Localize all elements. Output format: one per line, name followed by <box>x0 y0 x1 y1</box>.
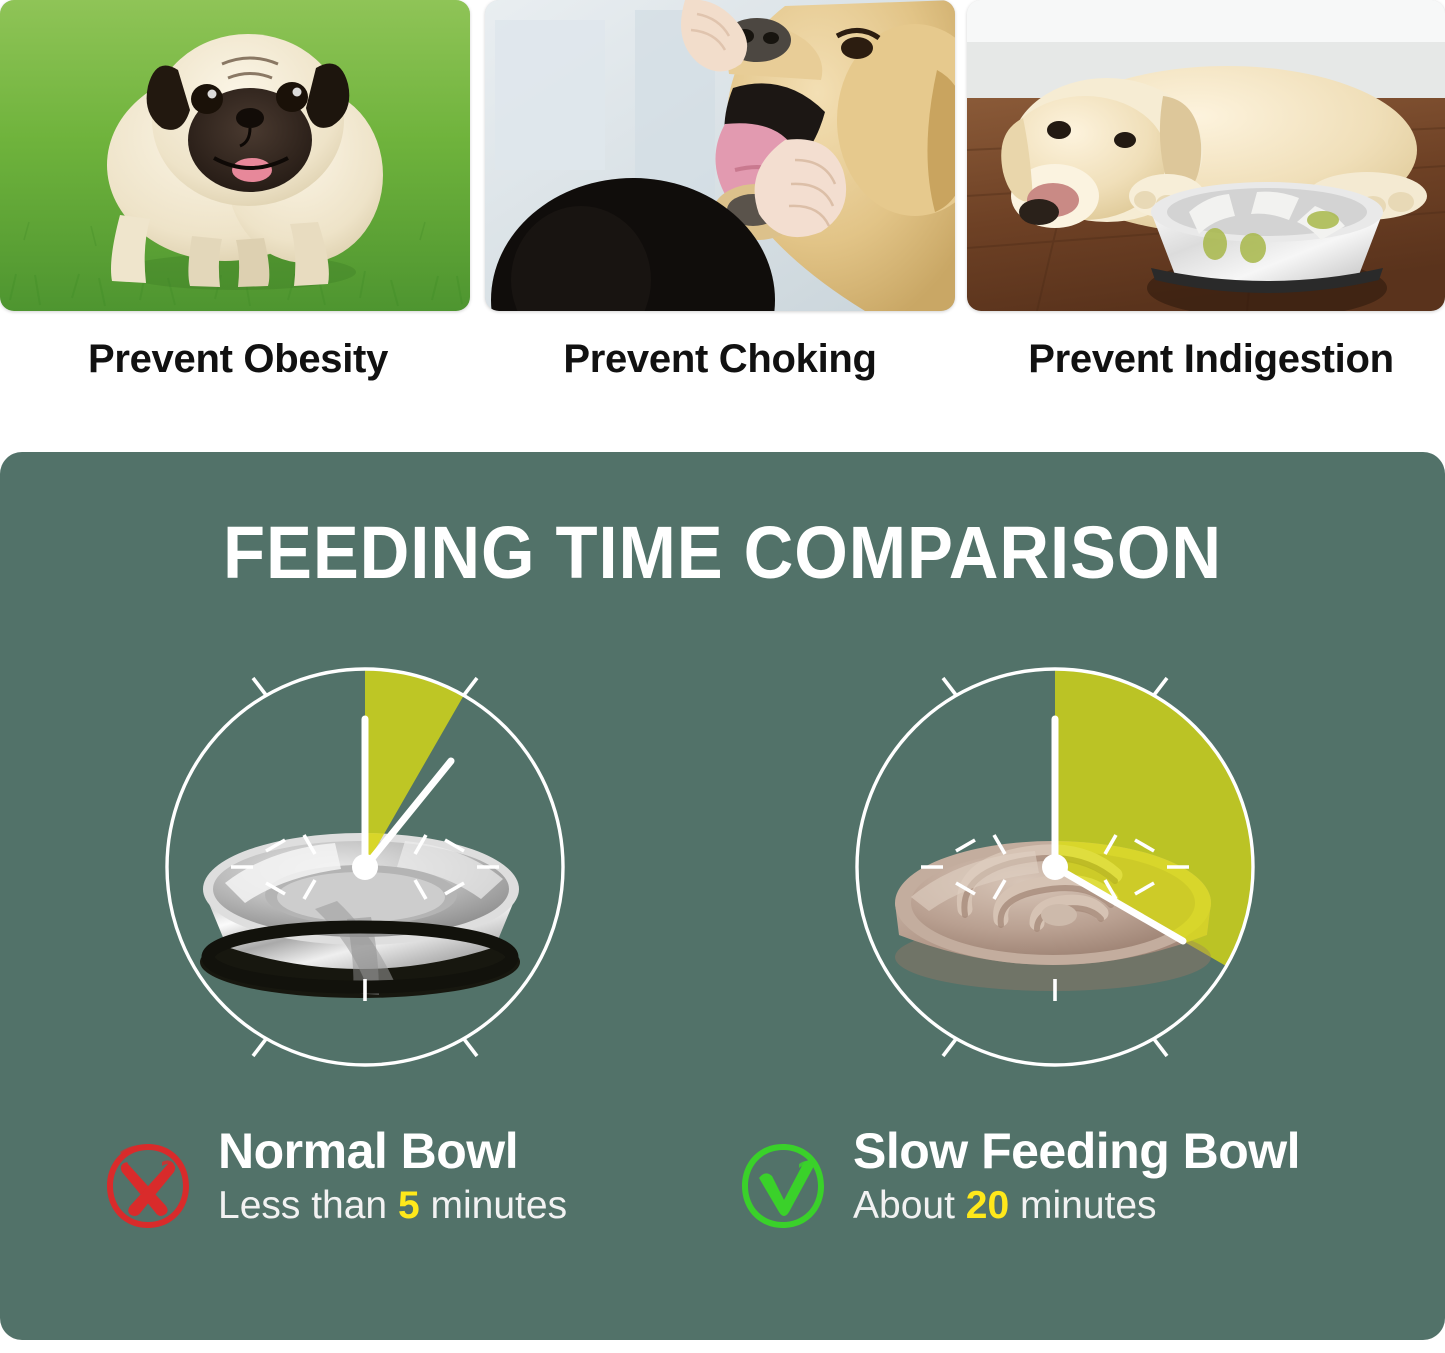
legend-title-slow-feeding-bowl: Slow Feeding Bowl <box>853 1124 1300 1178</box>
labrador-lying-by-food-bowl-photo <box>967 0 1445 311</box>
benefit-item-obesity: Prevent Obesity <box>0 0 470 382</box>
feeding-time-comparison-panel: FEEDING TIME COMPARISON <box>0 452 1445 1340</box>
clock-normal-bowl <box>155 657 575 1077</box>
green-check-icon <box>735 1138 831 1234</box>
benefit-item-indigestion: Prevent Indigestion <box>967 0 1445 382</box>
benefits-strip: Prevent Obesity <box>0 0 1445 400</box>
red-cross-icon <box>100 1138 196 1234</box>
legend-subtitle-normal-bowl: Less than 5 minutes <box>218 1184 567 1229</box>
legend-slow-feeding-bowl: Slow Feeding Bowl About 20 minutes <box>735 1124 1300 1234</box>
benefit-label-choking: Prevent Choking <box>485 337 955 382</box>
clock-center-dot <box>1042 854 1068 880</box>
legend-normal-bowl: Normal Bowl Less than 5 minutes <box>100 1124 567 1234</box>
legend-prefix-left: Less than <box>218 1184 398 1227</box>
benefit-label-indigestion: Prevent Indigestion <box>967 337 1445 382</box>
legend-subtitle-slow-feeding-bowl: About 20 minutes <box>853 1184 1300 1229</box>
legend-suffix-left: minutes <box>420 1184 567 1227</box>
clock-center-dot <box>352 854 378 880</box>
dog-mouth-opened-by-hand-photo <box>485 0 955 311</box>
legend-prefix-right: About <box>853 1184 966 1227</box>
benefit-label-obesity: Prevent Obesity <box>0 337 470 382</box>
fat-pug-on-grass-photo <box>0 0 470 311</box>
comparison-legend: Normal Bowl Less than 5 minutes Slow Fee… <box>0 1124 1445 1284</box>
benefit-item-choking: Prevent Choking <box>485 0 955 382</box>
clock-slow-feeding-bowl <box>845 657 1265 1077</box>
legend-value-left: 5 <box>398 1184 420 1227</box>
legend-suffix-right: minutes <box>1009 1184 1156 1227</box>
legend-value-right: 20 <box>966 1184 1009 1227</box>
legend-title-normal-bowl: Normal Bowl <box>218 1124 567 1178</box>
